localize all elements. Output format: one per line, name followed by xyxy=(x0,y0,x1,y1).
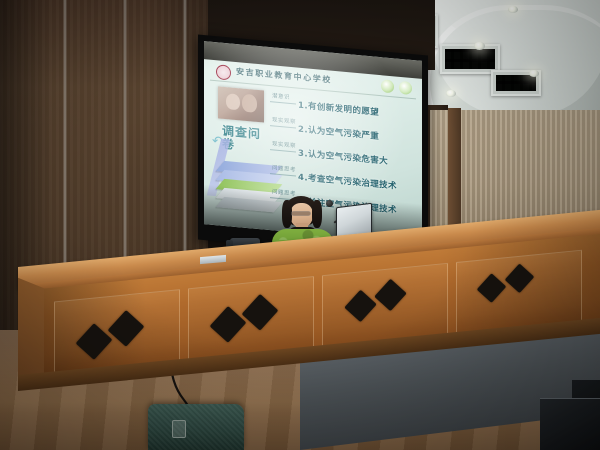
diamond-inlay xyxy=(505,263,535,293)
foreground-chair-back xyxy=(148,404,244,450)
ceiling-spotlight-icon xyxy=(508,6,518,13)
foreground-dark-panel xyxy=(540,398,600,450)
lecture-hall-photo: 安吉职业教育中心学校 ↶ ↷ 调查问卷 潜意识 1.有创新发明的愿 xyxy=(0,0,600,450)
ceiling-spotlight-icon xyxy=(529,70,539,77)
glasses-icon xyxy=(291,211,311,216)
diamond-inlay xyxy=(76,323,113,360)
ceiling-spotlight-icon xyxy=(446,90,456,97)
diamond-inlay xyxy=(108,310,145,347)
diamond-inlay xyxy=(374,279,407,312)
conference-table xyxy=(0,225,600,405)
diamond-inlay xyxy=(477,273,507,303)
diamond-inlay xyxy=(210,306,247,343)
table-left-end xyxy=(18,278,44,389)
diamond-inlay xyxy=(242,294,279,331)
presenter-hair-right xyxy=(312,200,322,228)
microphone-icon xyxy=(326,200,333,207)
diamond-inlay xyxy=(344,290,377,323)
chair-label-plate xyxy=(172,420,186,438)
ceiling-spotlight-icon xyxy=(474,42,485,50)
